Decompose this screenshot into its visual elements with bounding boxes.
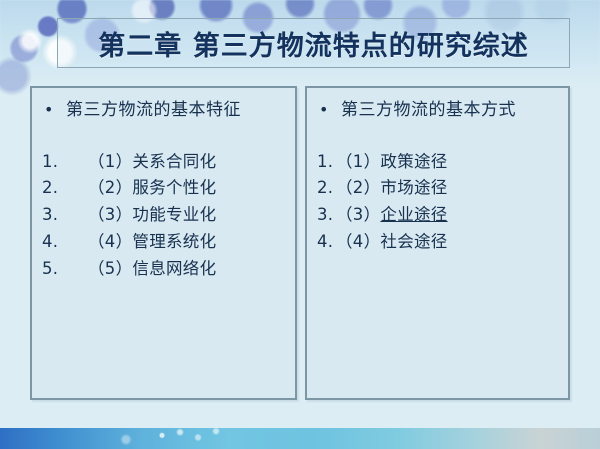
right-heading-row: • 第三方物流的基本方式 [315, 98, 560, 123]
list-item: 5. （5）信息网络化 [40, 256, 287, 283]
list-item: 3. （3）企业途径 [315, 202, 560, 229]
list-item-index: 1. [315, 149, 336, 176]
list-item-index: 3. [40, 202, 88, 229]
list-item-index: 2. [315, 175, 336, 202]
content-box-right: • 第三方物流的基本方式 1. （1）政策途径 2. （2）市场途径 3. （3… [305, 86, 570, 400]
list-item-index: 3. [315, 202, 336, 229]
list-item-text: （1）关系合同化 [88, 149, 287, 176]
list-item-text: （4）社会途径 [336, 229, 560, 256]
list-item-index: 4. [40, 229, 88, 256]
list-item: 2. （2）市场途径 [315, 175, 560, 202]
list-item-text: （2）服务个性化 [88, 175, 287, 202]
list-item-index: 4. [315, 229, 336, 256]
list-item-index: 5. [40, 256, 88, 283]
slide: 第二章 第三方物流特点的研究综述 • 第三方物流的基本特征 1. （1）关系合同… [0, 0, 600, 449]
list-item-text: （2）市场途径 [336, 175, 560, 202]
list-item: 1. （1）关系合同化 [40, 149, 287, 176]
list-item-text: （3）功能专业化 [88, 202, 287, 229]
content-box-left-inner: • 第三方物流的基本特征 1. （1）关系合同化 2. （2）服务个性化 3. … [32, 88, 295, 398]
right-numbered-list: 1. （1）政策途径 2. （2）市场途径 3. （3）企业途径 4. （4）社… [315, 149, 560, 256]
right-heading-text: 第三方物流的基本方式 [341, 98, 560, 123]
content-box-left: • 第三方物流的基本特征 1. （1）关系合同化 2. （2）服务个性化 3. … [30, 86, 297, 400]
list-item: 1. （1）政策途径 [315, 149, 560, 176]
footer-gradient-strip [0, 428, 600, 449]
list-item: 3. （3）功能专业化 [40, 202, 287, 229]
list-item-text: 企业途径 [380, 205, 447, 224]
content-box-right-inner: • 第三方物流的基本方式 1. （1）政策途径 2. （2）市场途径 3. （3… [307, 88, 568, 398]
list-item-prefix: （3） [336, 205, 380, 224]
left-heading-row: • 第三方物流的基本特征 [40, 98, 287, 123]
list-item: 2. （2）服务个性化 [40, 175, 287, 202]
list-item: 4. （4）社会途径 [315, 229, 560, 256]
bullet-icon: • [40, 98, 66, 121]
page-title: 第二章 第三方物流特点的研究综述 [57, 18, 570, 68]
list-item-index: 2. [40, 175, 88, 202]
list-item-text-wrap: （3）企业途径 [336, 202, 560, 229]
left-heading-text: 第三方物流的基本特征 [66, 98, 287, 123]
list-item-text: （1）政策途径 [336, 149, 560, 176]
left-numbered-list: 1. （1）关系合同化 2. （2）服务个性化 3. （3）功能专业化 4. （… [40, 149, 287, 283]
list-item: 4. （4）管理系统化 [40, 229, 287, 256]
list-item-index: 1. [40, 149, 88, 176]
list-item-text: （4）管理系统化 [88, 229, 287, 256]
bullet-icon: • [315, 98, 341, 121]
list-item-text: （5）信息网络化 [88, 256, 287, 283]
